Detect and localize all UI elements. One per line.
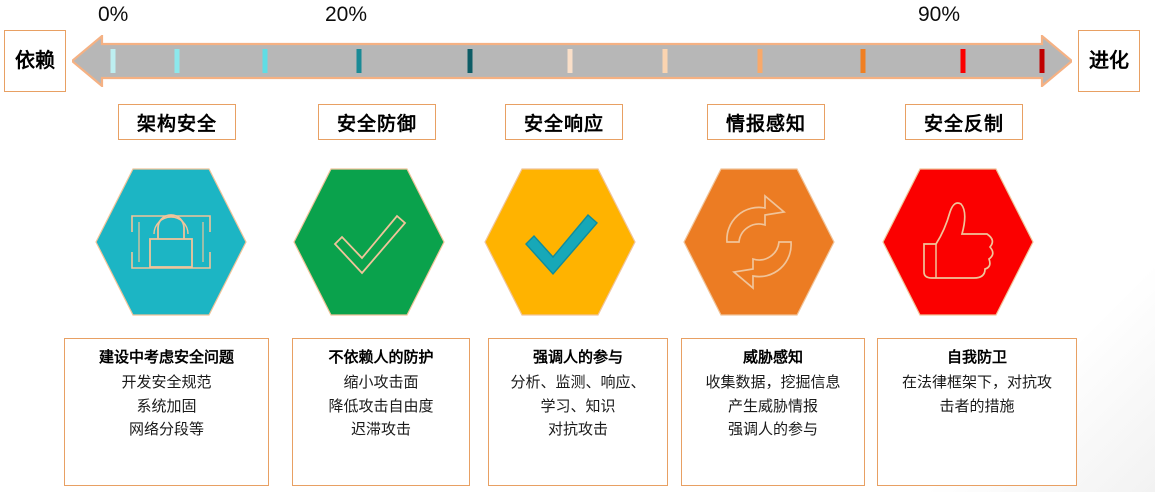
axis-tick-0: [111, 49, 116, 73]
stage-description-line: 强调人的参与: [686, 418, 860, 441]
percent-label-20pct: 20%: [325, 4, 367, 25]
stage-description-line: 系统加固: [69, 395, 264, 418]
stage-label-4[interactable]: 情报感知: [707, 104, 825, 140]
stage-description-line: 降低攻击自由度: [297, 395, 465, 418]
stage-description-4: 威胁感知收集数据，挖掘信息产生威胁情报强调人的参与: [681, 338, 865, 486]
stage-description-line: 缩小攻击面: [297, 371, 465, 394]
axis-left-cap: 依赖: [4, 30, 66, 92]
stage-description-line: 分析、监测、响应、: [493, 371, 663, 394]
axis-tick-3: [357, 49, 362, 73]
stage-description-title-3: 强调人的参与: [493, 348, 663, 368]
axis-tick-4: [468, 49, 473, 73]
stage-description-title-5: 自我防卫: [882, 348, 1072, 368]
axis-tick-5: [568, 49, 573, 73]
stage-hexagon-3[interactable]: [484, 168, 636, 316]
maturity-axis-bar: [72, 35, 1072, 87]
axis-right-cap: 进化: [1078, 30, 1140, 92]
hexagon-shape: [294, 169, 444, 315]
axis-right-cap-label: 进化: [1089, 51, 1129, 72]
hexagon-shape: [485, 169, 635, 315]
stage-description-line: 在法律框架下，对抗攻: [882, 371, 1072, 394]
stage-label-3[interactable]: 安全响应: [505, 104, 623, 140]
axis-tick-8: [861, 49, 866, 73]
axis-left-cap-label: 依赖: [15, 51, 55, 72]
hexagon-shape: [96, 169, 246, 315]
stage-description-line: 收集数据，挖掘信息: [686, 371, 860, 394]
hexagon-shape: [883, 169, 1033, 315]
axis-tick-2: [263, 49, 268, 73]
stage-description-2: 不依赖人的防护缩小攻击面降低攻击自由度迟滞攻击: [292, 338, 470, 486]
stage-description-line: 学习、知识: [493, 395, 663, 418]
stage-description-5: 自我防卫在法律框架下，对抗攻击者的措施: [877, 338, 1077, 486]
axis-tick-1: [175, 49, 180, 73]
stage-label-2[interactable]: 安全防御: [318, 104, 436, 140]
axis-tick-6: [663, 49, 668, 73]
axis-tick-10: [1040, 49, 1045, 73]
hexagon-shape: [684, 169, 834, 315]
stage-description-title-4: 威胁感知: [686, 348, 860, 368]
stage-hexagon-1[interactable]: [95, 168, 247, 316]
stage-description-line: 网络分段等: [69, 418, 264, 441]
stage-description-line: 迟滞攻击: [297, 418, 465, 441]
stage-description-title-1: 建设中考虑安全问题: [69, 348, 264, 368]
stage-hexagon-2[interactable]: [293, 168, 445, 316]
stage-description-3: 强调人的参与分析、监测、响应、学习、知识对抗攻击: [488, 338, 668, 486]
percent-label-0pct: 0%: [98, 4, 128, 25]
stage-label-5[interactable]: 安全反制: [905, 104, 1023, 140]
stage-description-line: 对抗攻击: [493, 418, 663, 441]
stage-label-1[interactable]: 架构安全: [118, 104, 236, 140]
security-maturity-diagram: 0%20%90% 依赖 进化 架构安全建设中考虑安全问题开发安全规范系统加固网络…: [0, 0, 1155, 492]
stage-hexagon-5[interactable]: [882, 168, 1034, 316]
stage-description-line: 产生威胁情报: [686, 395, 860, 418]
axis-tick-9: [961, 49, 966, 73]
stage-description-line: 击者的措施: [882, 395, 1072, 418]
stage-description-1: 建设中考虑安全问题开发安全规范系统加固网络分段等: [64, 338, 269, 486]
percent-label-90pct: 90%: [918, 4, 960, 25]
stage-description-title-2: 不依赖人的防护: [297, 348, 465, 368]
axis-tick-7: [758, 49, 763, 73]
stage-description-line: 开发安全规范: [69, 371, 264, 394]
stage-hexagon-4[interactable]: [683, 168, 835, 316]
